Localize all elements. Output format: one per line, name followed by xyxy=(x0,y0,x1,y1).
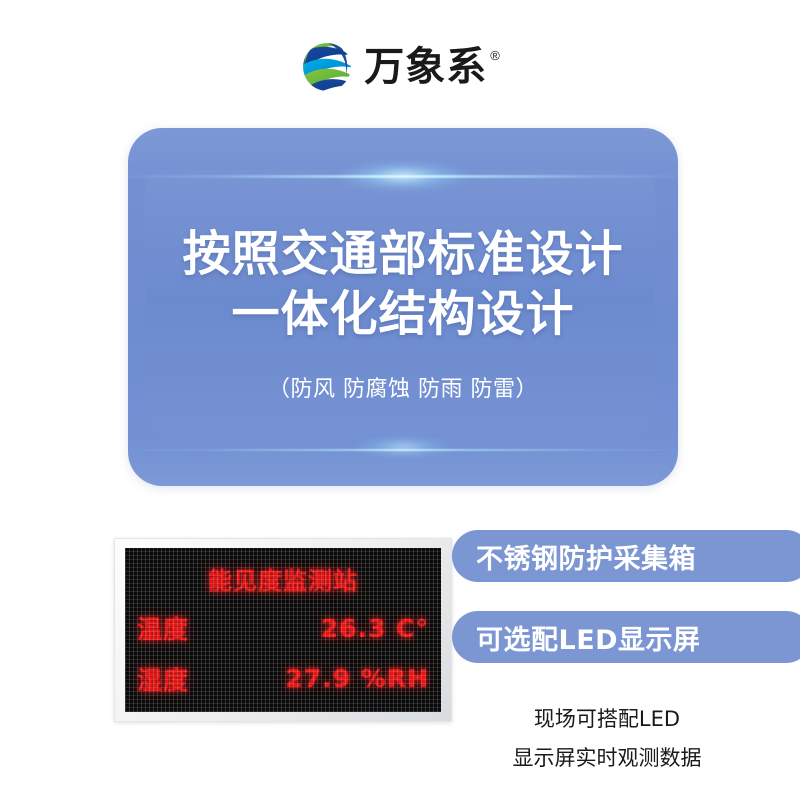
brand-header: 万象系 ® xyxy=(0,32,800,102)
footer-caption: 现场可搭配LED 显示屏实时观测数据 xyxy=(452,700,762,778)
footer-caption-line-1: 现场可搭配LED xyxy=(452,700,762,739)
led-display-panel: 能见度监测站 温度 26.3 C° 湿度 27.9 %RH xyxy=(114,538,452,722)
banner-content: 按照交通部标准设计 一体化结构设计 （防风 防腐蚀 防雨 防雷） xyxy=(128,128,678,486)
feature-pill-label: 可选配LED显示屏 xyxy=(476,618,701,657)
banner-subtitle: （防风 防腐蚀 防雨 防雷） xyxy=(268,371,538,403)
feature-pill-optional-led-screen: 可选配LED显示屏 xyxy=(452,611,800,663)
led-screen: 能见度监测站 温度 26.3 C° 湿度 27.9 %RH xyxy=(125,548,441,712)
led-station-title: 能见度监测站 xyxy=(137,561,429,596)
led-screen-content: 能见度监测站 温度 26.3 C° 湿度 27.9 %RH xyxy=(125,548,441,712)
feature-pill-stainless-steel-box: 不锈钢防护采集箱 xyxy=(452,530,800,582)
led-label-humidity: 湿度 xyxy=(137,661,189,697)
led-value-temperature: 26.3 C° xyxy=(321,614,429,643)
footer-caption-line-2: 显示屏实时观测数据 xyxy=(452,739,762,778)
banner-title-line-2: 一体化结构设计 xyxy=(182,285,623,344)
registered-trademark-icon: ® xyxy=(490,49,500,62)
banner-title-line-1: 按照交通部标准设计 xyxy=(182,225,623,284)
led-label-temperature: 温度 xyxy=(137,610,189,646)
hero-banner-card: 按照交通部标准设计 一体化结构设计 （防风 防腐蚀 防雨 防雷） xyxy=(128,128,678,486)
led-row-temperature: 温度 26.3 C° xyxy=(137,610,429,646)
led-row-humidity: 湿度 27.9 %RH xyxy=(137,661,429,697)
logo-globe-swirl-icon xyxy=(300,40,354,94)
brand-name: 万象系 xyxy=(364,47,487,87)
banner-title: 按照交通部标准设计 一体化结构设计 xyxy=(182,225,623,343)
feature-pill-label: 不锈钢防护采集箱 xyxy=(476,537,696,576)
led-value-humidity: 27.9 %RH xyxy=(285,664,429,693)
